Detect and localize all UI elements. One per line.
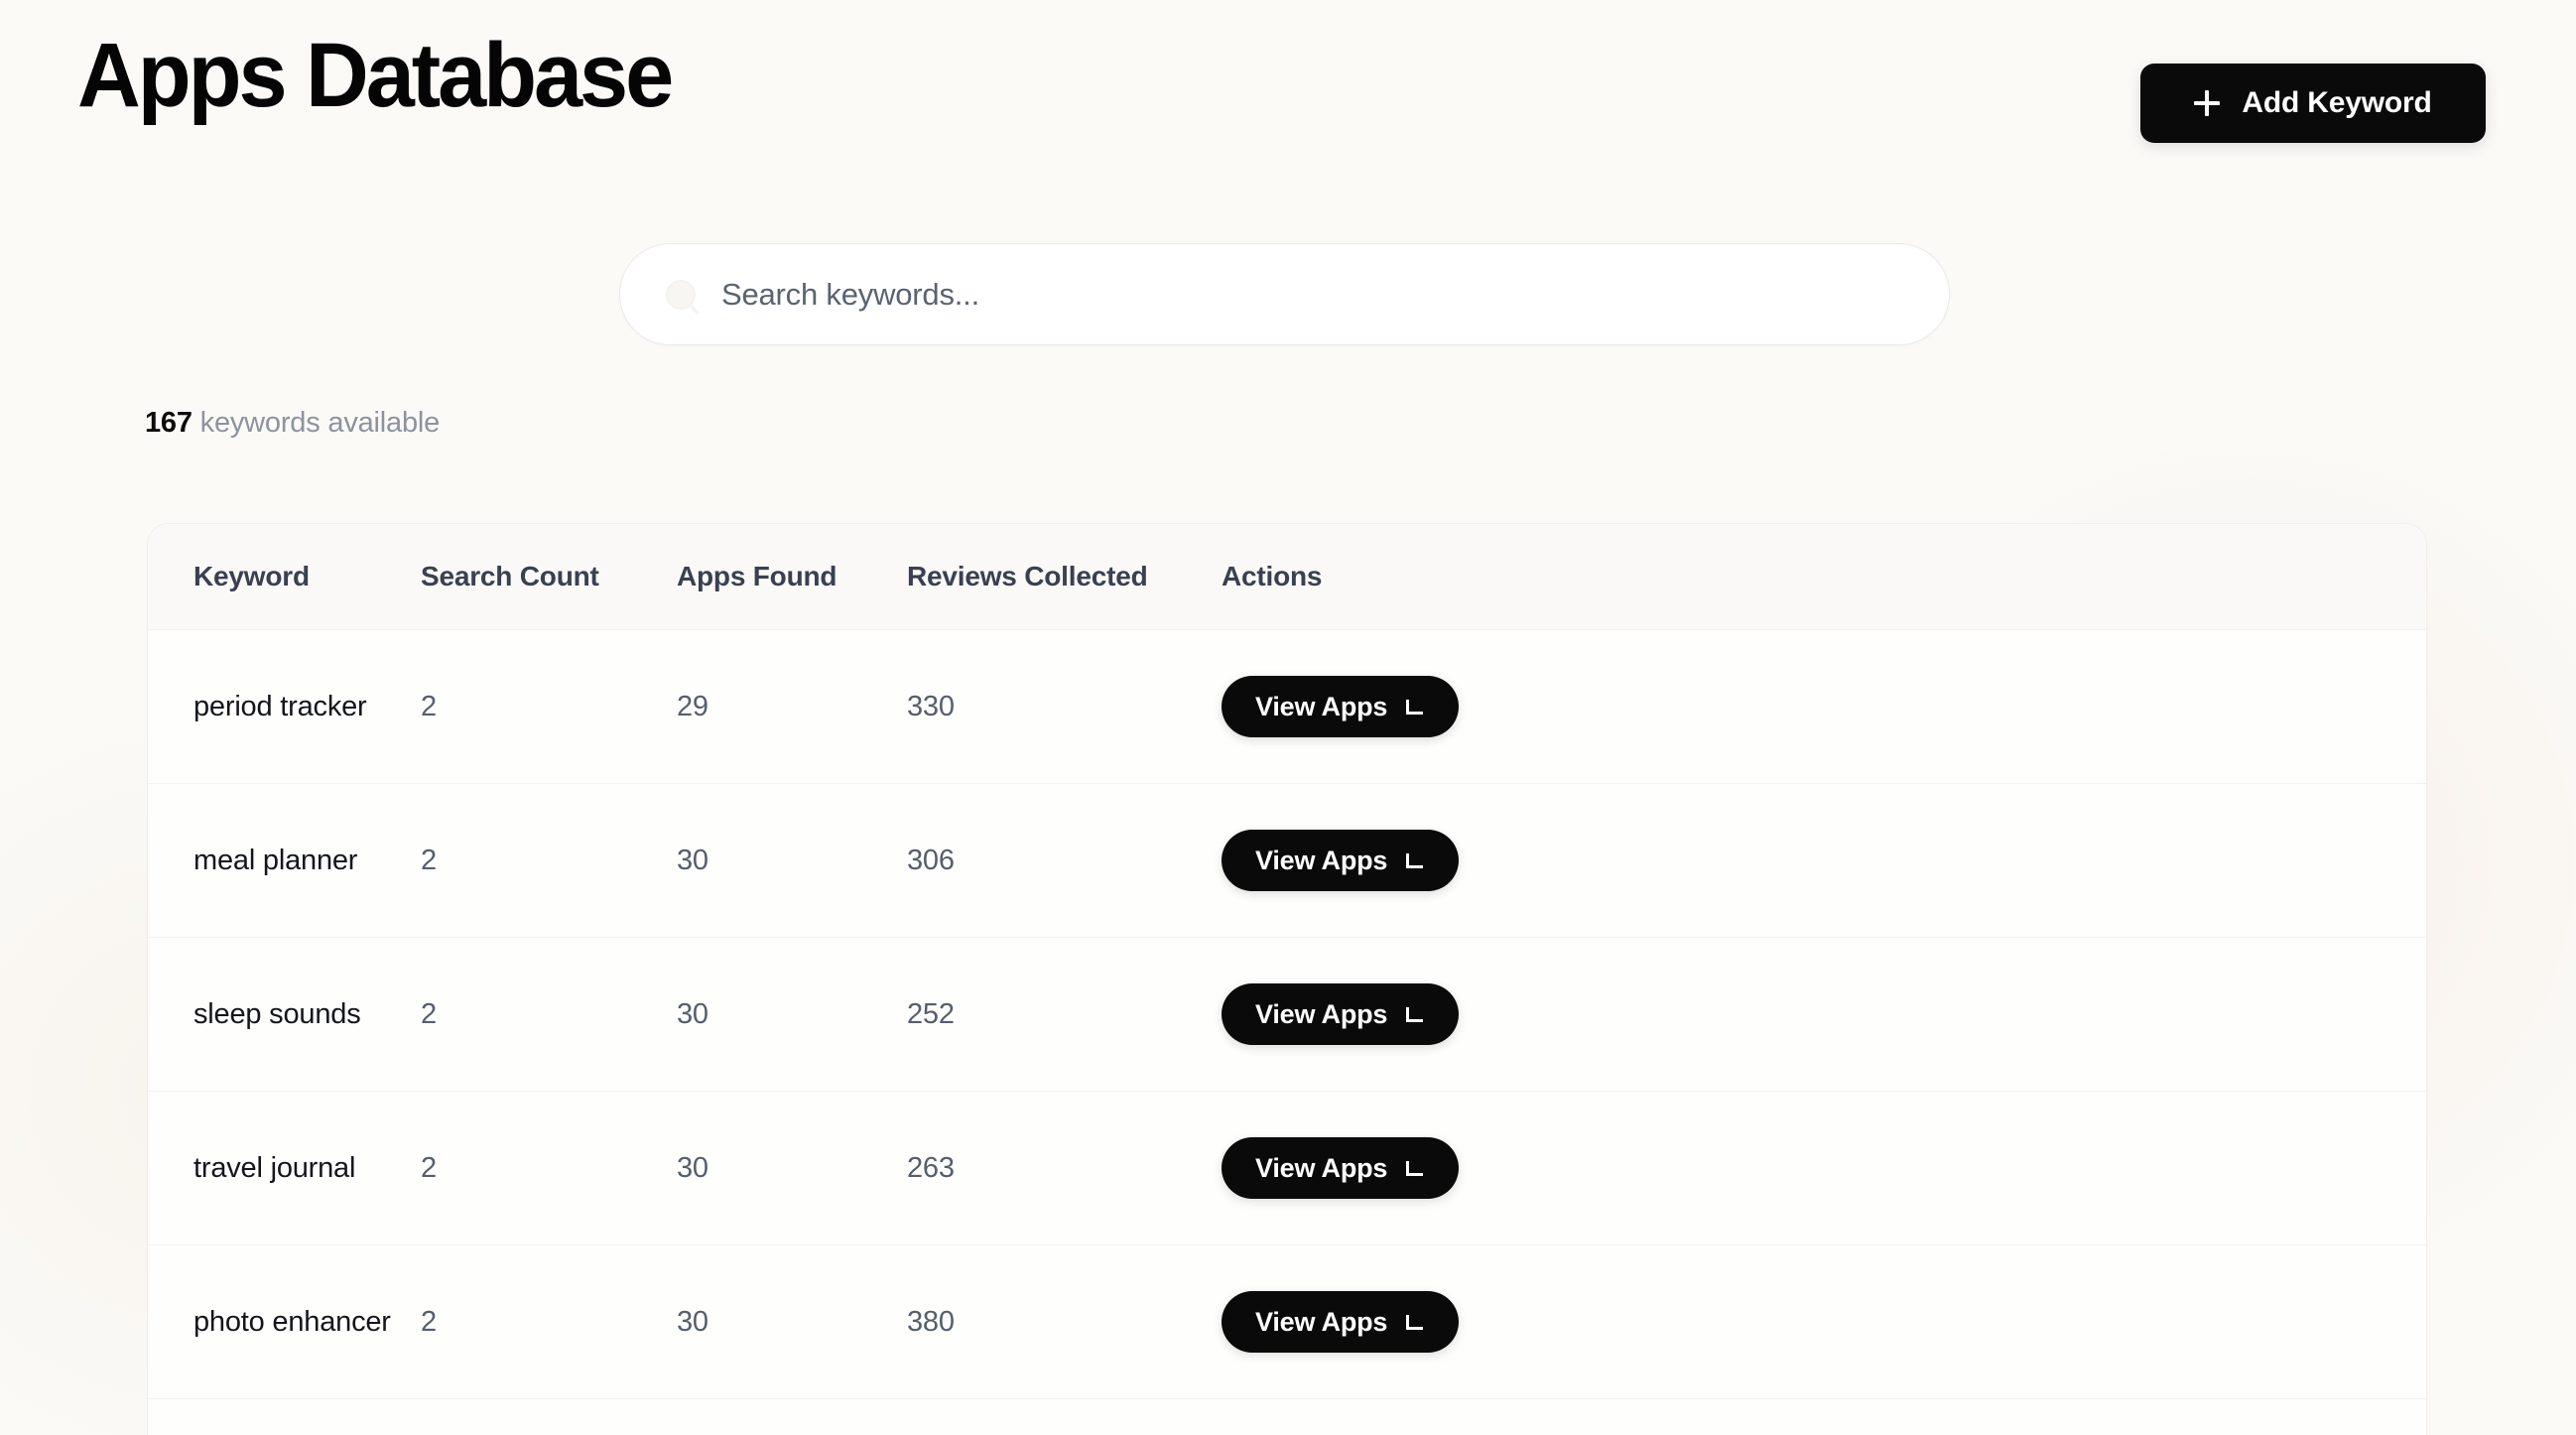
column-header-apps-found: Apps Found: [677, 561, 907, 592]
add-keyword-label: Add Keyword: [2242, 86, 2431, 120]
table-row[interactable]: photo enhancer 2 30 380 View Apps: [148, 1245, 2426, 1399]
view-apps-button[interactable]: View Apps: [1222, 830, 1459, 891]
cell-apps-found: 30: [677, 845, 907, 877]
cell-reviews-collected: 252: [907, 998, 1222, 1031]
cell-keyword: sleep sounds: [148, 998, 421, 1031]
cell-actions: View Apps: [1222, 830, 2426, 891]
cell-search-count: 2: [421, 691, 677, 723]
cell-search-count: 2: [421, 845, 677, 877]
column-header-reviews-collected: Reviews Collected: [907, 561, 1222, 592]
cell-reviews-collected: 330: [907, 691, 1222, 723]
keyword-count-number: 167: [145, 407, 193, 439]
view-apps-button[interactable]: View Apps: [1222, 1291, 1459, 1353]
table-row[interactable]: View Apps: [148, 1399, 2426, 1435]
view-apps-button[interactable]: View Apps: [1222, 1137, 1459, 1199]
view-apps-label: View Apps: [1255, 846, 1387, 876]
cell-apps-found: 30: [677, 998, 907, 1031]
view-apps-label: View Apps: [1255, 1153, 1387, 1184]
table-header-row: Keyword Search Count Apps Found Reviews …: [148, 524, 2426, 630]
table-row[interactable]: meal planner 2 30 306 View Apps: [148, 784, 2426, 938]
table-row[interactable]: sleep sounds 2 30 252 View Apps: [148, 938, 2426, 1092]
keyword-count-status: 167 keywords available: [145, 407, 440, 440]
cell-search-count: 2: [421, 1152, 677, 1185]
external-link-arrow-icon: [1405, 697, 1425, 717]
page-header: Apps Database Add Keyword: [0, 0, 2576, 184]
app-root: Apps Database Add Keyword 167 keywords a…: [0, 0, 2576, 1435]
cell-reviews-collected: 380: [907, 1306, 1222, 1339]
cell-apps-found: 30: [677, 1152, 907, 1185]
cell-reviews-collected: 306: [907, 845, 1222, 877]
search-container: [619, 243, 1950, 345]
search-icon: [666, 280, 696, 310]
cell-keyword: travel journal: [148, 1152, 421, 1185]
column-header-search-count: Search Count: [421, 561, 677, 592]
page-title: Apps Database: [77, 26, 671, 126]
column-header-keyword: Keyword: [148, 561, 421, 592]
cell-actions: View Apps: [1222, 676, 2426, 737]
add-keyword-button[interactable]: Add Keyword: [2140, 64, 2486, 143]
view-apps-button[interactable]: View Apps: [1222, 676, 1459, 737]
view-apps-label: View Apps: [1255, 1307, 1387, 1338]
column-header-actions: Actions: [1222, 561, 2426, 592]
cell-actions: View Apps: [1222, 983, 2426, 1045]
cell-search-count: 2: [421, 1306, 677, 1339]
cell-apps-found: 30: [677, 1306, 907, 1339]
table-row[interactable]: period tracker 2 29 330 View Apps: [148, 630, 2426, 784]
view-apps-label: View Apps: [1255, 692, 1387, 722]
cell-apps-found: 29: [677, 691, 907, 723]
search-box[interactable]: [619, 243, 1950, 345]
cell-actions: View Apps: [1222, 1137, 2426, 1199]
cell-search-count: 2: [421, 998, 677, 1031]
external-link-arrow-icon: [1405, 850, 1425, 870]
keywords-table: Keyword Search Count Apps Found Reviews …: [147, 523, 2427, 1435]
view-apps-label: View Apps: [1255, 999, 1387, 1030]
external-link-arrow-icon: [1405, 1158, 1425, 1178]
external-link-arrow-icon: [1405, 1004, 1425, 1024]
plus-icon: [2194, 90, 2220, 116]
cell-keyword: period tracker: [148, 691, 421, 723]
cell-reviews-collected: 263: [907, 1152, 1222, 1185]
cell-keyword: meal planner: [148, 845, 421, 877]
table-row[interactable]: travel journal 2 30 263 View Apps: [148, 1092, 2426, 1245]
search-input[interactable]: [721, 277, 1903, 313]
cell-actions: View Apps: [1222, 1291, 2426, 1353]
keyword-count-label: keywords available: [193, 407, 440, 439]
cell-keyword: photo enhancer: [148, 1306, 421, 1339]
view-apps-button[interactable]: View Apps: [1222, 983, 1459, 1045]
external-link-arrow-icon: [1405, 1312, 1425, 1332]
